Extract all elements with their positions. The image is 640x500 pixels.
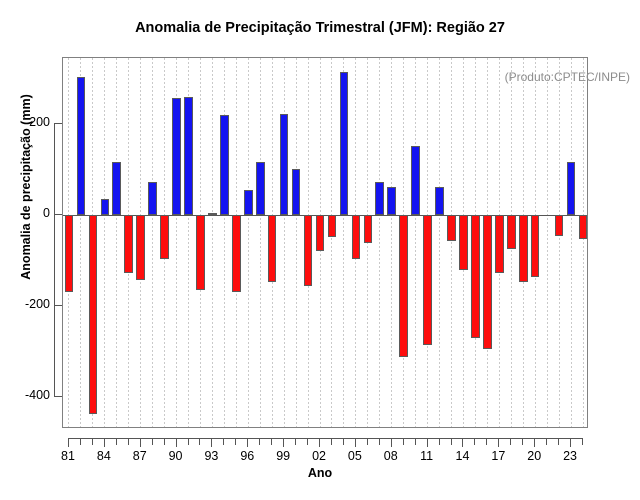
x-axis-tick — [104, 438, 105, 447]
chart-canvas: Anomalia de Precipitação Trimestral (JFM… — [0, 0, 640, 500]
x-axis-tick — [451, 438, 452, 445]
x-axis-tick — [403, 438, 404, 445]
bar-1988 — [148, 182, 157, 215]
x-axis-label: 23 — [555, 449, 585, 463]
bar-1987 — [136, 215, 145, 280]
bar-1998 — [268, 215, 277, 282]
bar-2007 — [375, 182, 384, 215]
y-axis-tick — [54, 214, 62, 215]
x-axis-tick — [343, 438, 344, 445]
plot-area — [62, 57, 588, 428]
x-axis-tick — [486, 438, 487, 445]
x-axis-tick — [68, 438, 69, 447]
bar-1997 — [256, 162, 265, 215]
chart-title: Anomalia de Precipitação Trimestral (JFM… — [0, 20, 640, 36]
bar-1995 — [232, 215, 241, 291]
bar-2023 — [567, 162, 576, 215]
x-axis-label: 96 — [232, 449, 262, 463]
bar-2024 — [579, 215, 588, 239]
source-annotation: (Produto:CPTEC/INPE) — [505, 70, 630, 84]
bar-2002 — [316, 215, 325, 251]
x-axis-tick — [128, 438, 129, 445]
y-axis-label: -200 — [0, 297, 50, 311]
x-axis-tick — [307, 438, 308, 445]
x-axis-label: 14 — [447, 449, 477, 463]
bar-2008 — [387, 187, 396, 215]
bar-1991 — [184, 97, 193, 215]
y-axis-tick — [54, 396, 62, 397]
bar-1984 — [101, 199, 110, 215]
bar-1981 — [65, 215, 74, 291]
bar-2013 — [447, 215, 456, 241]
bar-2006 — [364, 215, 373, 243]
bar-2016 — [483, 215, 492, 349]
y-axis-label: 0 — [0, 206, 50, 220]
x-axis-label: 05 — [340, 449, 370, 463]
x-axis-label: 84 — [89, 449, 119, 463]
x-axis-label: 87 — [125, 449, 155, 463]
bar-2000 — [292, 169, 301, 215]
bar-series — [63, 58, 587, 427]
y-axis-tick — [54, 305, 62, 306]
bar-2010 — [411, 146, 420, 215]
x-axis-tick — [355, 438, 356, 447]
bar-2018 — [507, 215, 516, 249]
x-axis-tick — [510, 438, 511, 445]
x-axis-tick — [570, 438, 571, 447]
x-axis-tick — [319, 438, 320, 447]
x-axis-title: Ano — [0, 466, 640, 480]
x-axis-tick — [462, 438, 463, 447]
bar-2019 — [519, 215, 528, 282]
bar-1989 — [160, 215, 169, 259]
x-axis-tick — [80, 438, 81, 445]
bar-1990 — [172, 98, 181, 215]
x-axis-tick — [367, 438, 368, 445]
x-axis-tick — [223, 438, 224, 445]
x-axis-tick — [546, 438, 547, 445]
x-axis-line — [68, 438, 582, 439]
x-axis-tick — [271, 438, 272, 445]
x-axis-tick — [92, 438, 93, 445]
bar-2001 — [304, 215, 313, 286]
x-axis-tick — [116, 438, 117, 445]
x-axis-tick — [295, 438, 296, 445]
bar-2020 — [531, 215, 540, 277]
y-axis-label: 200 — [0, 115, 50, 129]
x-axis-tick — [140, 438, 141, 447]
bar-2022 — [555, 215, 564, 236]
x-axis-tick — [415, 438, 416, 445]
x-axis-label: 11 — [412, 449, 442, 463]
bar-1983 — [89, 215, 98, 414]
x-axis-tick — [534, 438, 535, 447]
y-axis-line — [54, 123, 55, 396]
bar-2009 — [399, 215, 408, 357]
x-axis-tick — [259, 438, 260, 445]
y-axis-title: Anomalia de precipitação (mm) — [19, 57, 33, 317]
x-axis-tick — [558, 438, 559, 445]
x-axis-tick — [211, 438, 212, 447]
bar-1996 — [244, 190, 253, 215]
x-axis-label: 99 — [268, 449, 298, 463]
x-axis-tick — [331, 438, 332, 445]
x-axis-tick — [235, 438, 236, 445]
x-axis-tick — [498, 438, 499, 447]
x-axis-tick — [379, 438, 380, 445]
x-axis-label: 17 — [483, 449, 513, 463]
x-axis-tick — [439, 438, 440, 445]
x-axis-tick — [247, 438, 248, 447]
bar-2015 — [471, 215, 480, 338]
x-axis-label: 20 — [519, 449, 549, 463]
bar-1993 — [208, 213, 217, 215]
x-axis-label: 90 — [161, 449, 191, 463]
bar-1986 — [124, 215, 133, 273]
bar-2017 — [495, 215, 504, 273]
x-axis-label: 93 — [196, 449, 226, 463]
x-axis-label: 81 — [53, 449, 83, 463]
x-axis-tick — [474, 438, 475, 445]
y-axis-tick — [54, 123, 62, 124]
x-axis-tick — [283, 438, 284, 447]
bar-1992 — [196, 215, 205, 290]
bar-2004 — [340, 72, 349, 215]
bar-2003 — [328, 215, 337, 237]
x-axis-label: 08 — [376, 449, 406, 463]
x-axis-tick — [164, 438, 165, 445]
x-axis-label: 02 — [304, 449, 334, 463]
y-axis-label: -400 — [0, 388, 50, 402]
bar-2014 — [459, 215, 468, 270]
bar-1999 — [280, 114, 289, 216]
x-axis-tick — [391, 438, 392, 447]
x-axis-tick — [152, 438, 153, 445]
x-axis-tick — [522, 438, 523, 445]
x-axis-tick — [427, 438, 428, 447]
x-axis-tick — [188, 438, 189, 445]
bar-1982 — [77, 77, 86, 215]
x-axis-tick — [199, 438, 200, 445]
bar-1985 — [112, 162, 121, 215]
bar-2005 — [352, 215, 361, 259]
bar-1994 — [220, 115, 229, 215]
bar-2012 — [435, 187, 444, 215]
bar-2011 — [423, 215, 432, 345]
x-axis-tick — [582, 438, 583, 445]
x-axis-tick — [176, 438, 177, 447]
